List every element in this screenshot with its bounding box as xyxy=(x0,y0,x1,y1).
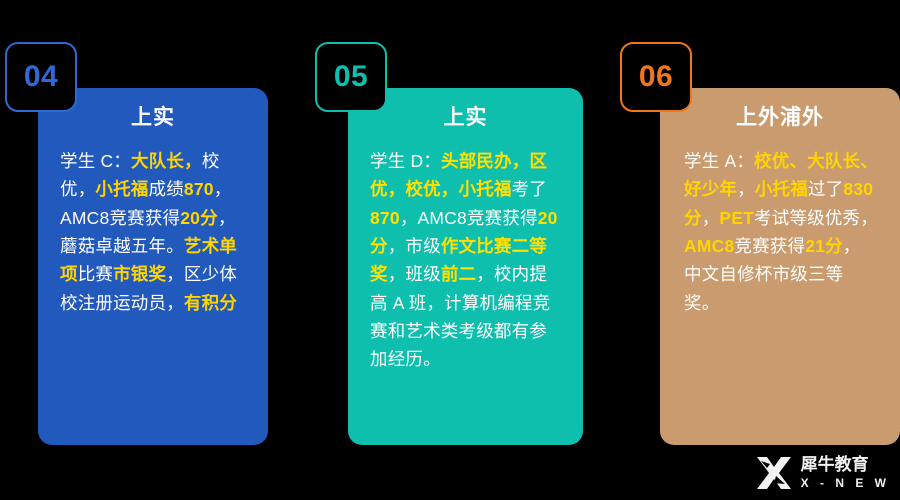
student-card-04: 上实 学生 C：大队长，校优，小托福成绩870，AMC8竞赛获得20分，蘑菇卓越… xyxy=(38,88,268,445)
slide-canvas: 上实 学生 C：大队长，校优，小托福成绩870，AMC8竞赛获得20分，蘑菇卓越… xyxy=(0,0,900,500)
card-number-badge-06: 06 xyxy=(620,42,692,112)
body-text: ，AMC8竞赛获得 xyxy=(400,208,538,228)
highlighted-text: 有积分 xyxy=(184,293,237,313)
student-card-06: 上外浦外 学生 A：校优、大队长、好少年，小托福过了830分，PET考试等级优秀… xyxy=(660,88,900,445)
rhino-x-logo-icon xyxy=(754,452,794,492)
card-title-04: 上实 xyxy=(38,107,268,128)
brand-watermark: 犀牛教育 X - N E W xyxy=(754,452,890,492)
card-body-04: 学生 C：大队长，校优，小托福成绩870，AMC8竞赛获得20分，蘑菇卓越五年。… xyxy=(60,147,246,317)
brand-text: 犀牛教育 X - N E W xyxy=(801,456,890,489)
card-number-badge-04: 04 xyxy=(5,42,77,112)
highlighted-text: PET xyxy=(719,208,754,228)
card-number-label-06: 06 xyxy=(639,62,673,92)
body-text: 比赛 xyxy=(78,264,113,284)
brand-name-en: X - N E W xyxy=(801,477,890,489)
student-card-05: 上实 学生 D：头部民办，区优，校优，小托福考了870，AMC8竞赛获得20分，… xyxy=(348,88,583,445)
highlighted-text: 870 xyxy=(370,208,400,228)
body-text: ，市级 xyxy=(388,236,441,256)
body-text: ， xyxy=(702,208,720,228)
body-text: 学生 A： xyxy=(684,151,754,171)
body-text: 学生 D： xyxy=(370,151,441,171)
highlighted-text: 870 xyxy=(184,179,214,199)
brand-name-cn: 犀牛教育 xyxy=(801,456,890,473)
highlighted-text: 20分 xyxy=(180,208,218,228)
body-text: ，班级 xyxy=(388,264,441,284)
card-title-06: 上外浦外 xyxy=(660,107,900,128)
highlighted-text: 前二 xyxy=(441,264,476,284)
highlighted-text: 大队长， xyxy=(131,151,202,171)
card-title-05: 上实 xyxy=(348,107,583,128)
card-body-06: 学生 A：校优、大队长、好少年，小托福过了830分，PET考试等级优秀，AMC8… xyxy=(684,147,878,317)
card-number-badge-05: 05 xyxy=(315,42,387,112)
body-text: ， xyxy=(737,179,755,199)
highlighted-text: 小托福 xyxy=(755,179,808,199)
body-text: 学生 C： xyxy=(60,151,131,171)
body-text: 过了 xyxy=(808,179,843,199)
body-text: 成绩 xyxy=(149,179,184,199)
highlighted-text: 市银奖 xyxy=(113,264,166,284)
card-body-05: 学生 D：头部民办，区优，校优，小托福考了870，AMC8竞赛获得20分，市级作… xyxy=(370,147,561,374)
body-text: 考试等级优秀， xyxy=(754,208,878,228)
body-text: 竞赛获得 xyxy=(109,208,180,228)
body-text: 竞赛获得 xyxy=(734,236,805,256)
highlighted-text: 21分 xyxy=(805,236,843,256)
card-number-label-05: 05 xyxy=(334,62,368,92)
highlighted-text: AMC8 xyxy=(684,236,734,256)
highlighted-text: 小托福 xyxy=(95,179,148,199)
card-number-label-04: 04 xyxy=(24,62,58,92)
body-text: 考了 xyxy=(512,179,547,199)
